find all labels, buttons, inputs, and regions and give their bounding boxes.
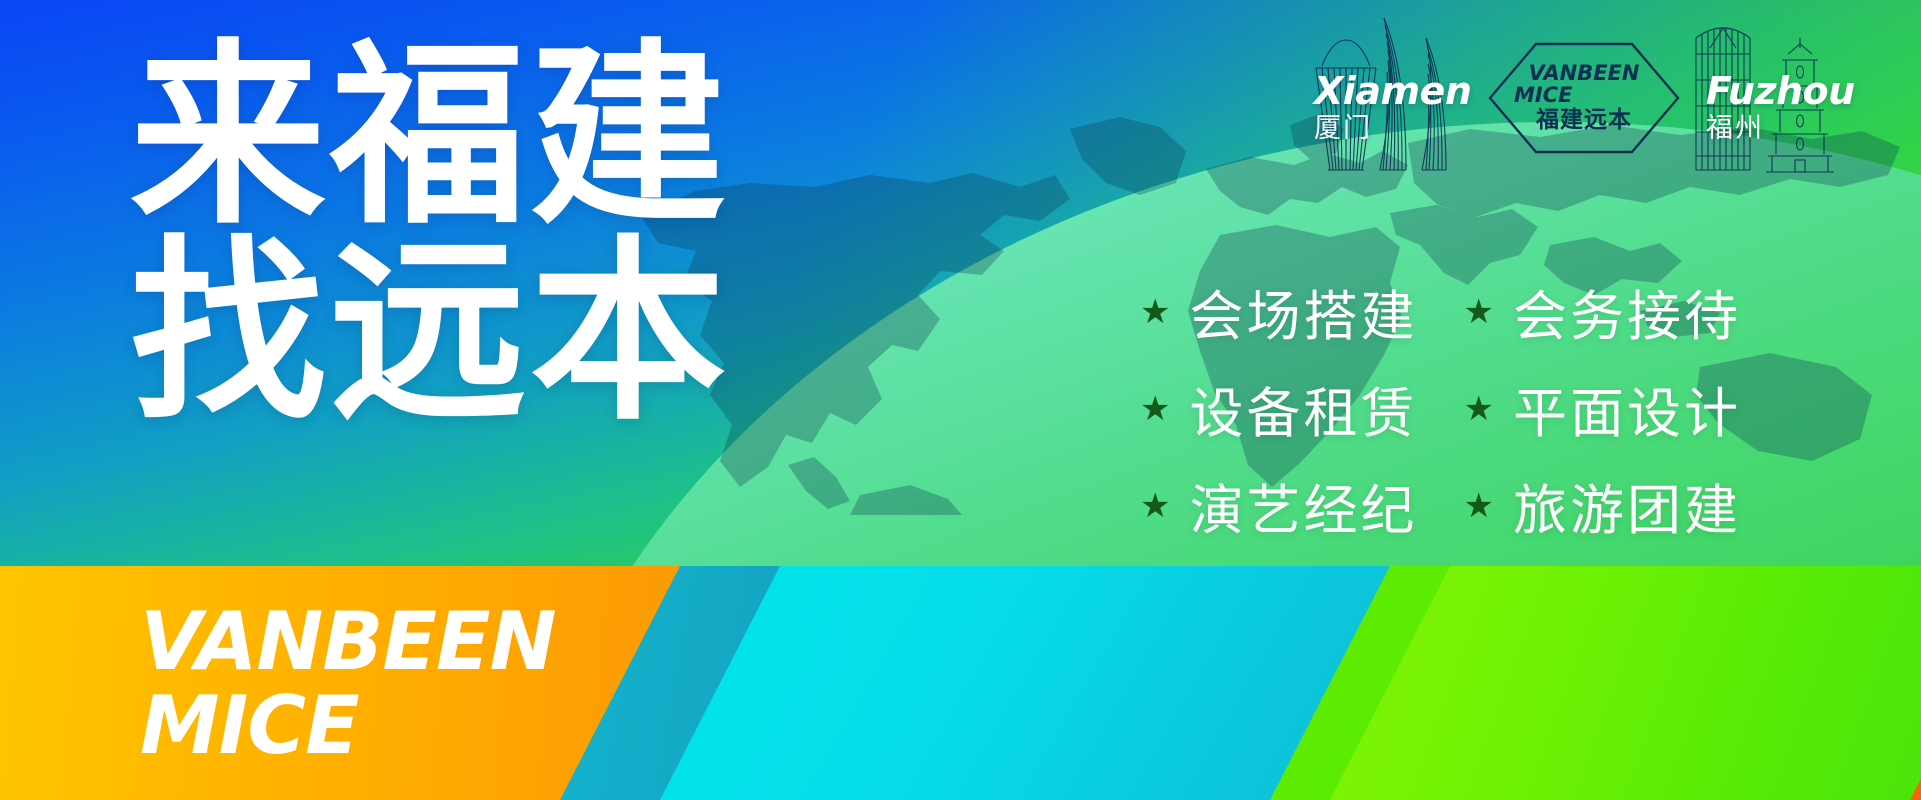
vanbeen-hexagon-badge: VANBEEN MICE 福建远本 — [1488, 42, 1680, 154]
city-label-xiamen: Xiamen 厦门 — [1314, 72, 1471, 144]
star-bullet-icon: ★ — [1140, 392, 1173, 426]
service-item-venue-setup: ★ 会场搭建 — [1140, 272, 1417, 351]
service-list: ★ 会场搭建 ★ 会务接待 ★ 设备租赁 ★ 平面设计 ★ 演艺经纪 ★ 旅游团… — [1140, 272, 1741, 545]
headline-line-1: 来福建 — [130, 42, 730, 232]
headline: 来福建 找远本 — [130, 42, 730, 428]
city-name-en: Xiamen — [1314, 72, 1471, 110]
wordmark-line-2: MICE — [140, 688, 556, 764]
service-item-performance-agency: ★ 演艺经纪 — [1140, 466, 1417, 545]
star-bullet-icon: ★ — [1463, 489, 1496, 523]
star-bullet-icon: ★ — [1140, 489, 1173, 523]
service-item-travel-teambuilding: ★ 旅游团建 — [1463, 466, 1740, 545]
star-bullet-icon: ★ — [1463, 295, 1496, 329]
star-bullet-icon: ★ — [1140, 295, 1173, 329]
promotional-banner: 来福建 找远本 ★ 会场搭建 ★ 会务接待 ★ 设备租赁 ★ 平面设计 ★ 演艺… — [0, 0, 1921, 800]
city-name-cn: 福州 — [1706, 114, 1855, 144]
hex-brand-line-3: 福建远本 — [1536, 109, 1632, 132]
service-item-conference-reception: ★ 会务接待 — [1463, 272, 1740, 351]
service-label: 会务接待 — [1513, 272, 1741, 351]
hex-brand-line-1: VANBEEN — [1529, 63, 1640, 84]
service-label: 演艺经纪 — [1189, 466, 1417, 545]
city-name-cn: 厦门 — [1314, 114, 1471, 144]
service-item-graphic-design: ★ 平面设计 — [1463, 369, 1740, 448]
hex-brand-line-2: MICE — [1514, 85, 1572, 106]
city-logo-cluster: VANBEEN MICE 福建远本 — [1300, 0, 1920, 175]
bottom-brand-bar: VANBEEN MICE — [0, 566, 1921, 800]
vanbeen-wordmark: VANBEEN MICE — [140, 604, 556, 764]
service-label: 平面设计 — [1513, 369, 1741, 448]
headline-line-2: 找远本 — [130, 238, 730, 428]
wordmark-line-1: VANBEEN — [140, 604, 556, 680]
city-name-en: Fuzhou — [1706, 72, 1855, 110]
service-item-equipment-rental: ★ 设备租赁 — [1140, 369, 1417, 448]
city-label-fuzhou: Fuzhou 福州 — [1706, 72, 1855, 144]
service-label: 设备租赁 — [1189, 369, 1417, 448]
service-label: 旅游团建 — [1513, 466, 1741, 545]
service-label: 会场搭建 — [1189, 272, 1417, 351]
star-bullet-icon: ★ — [1463, 392, 1496, 426]
